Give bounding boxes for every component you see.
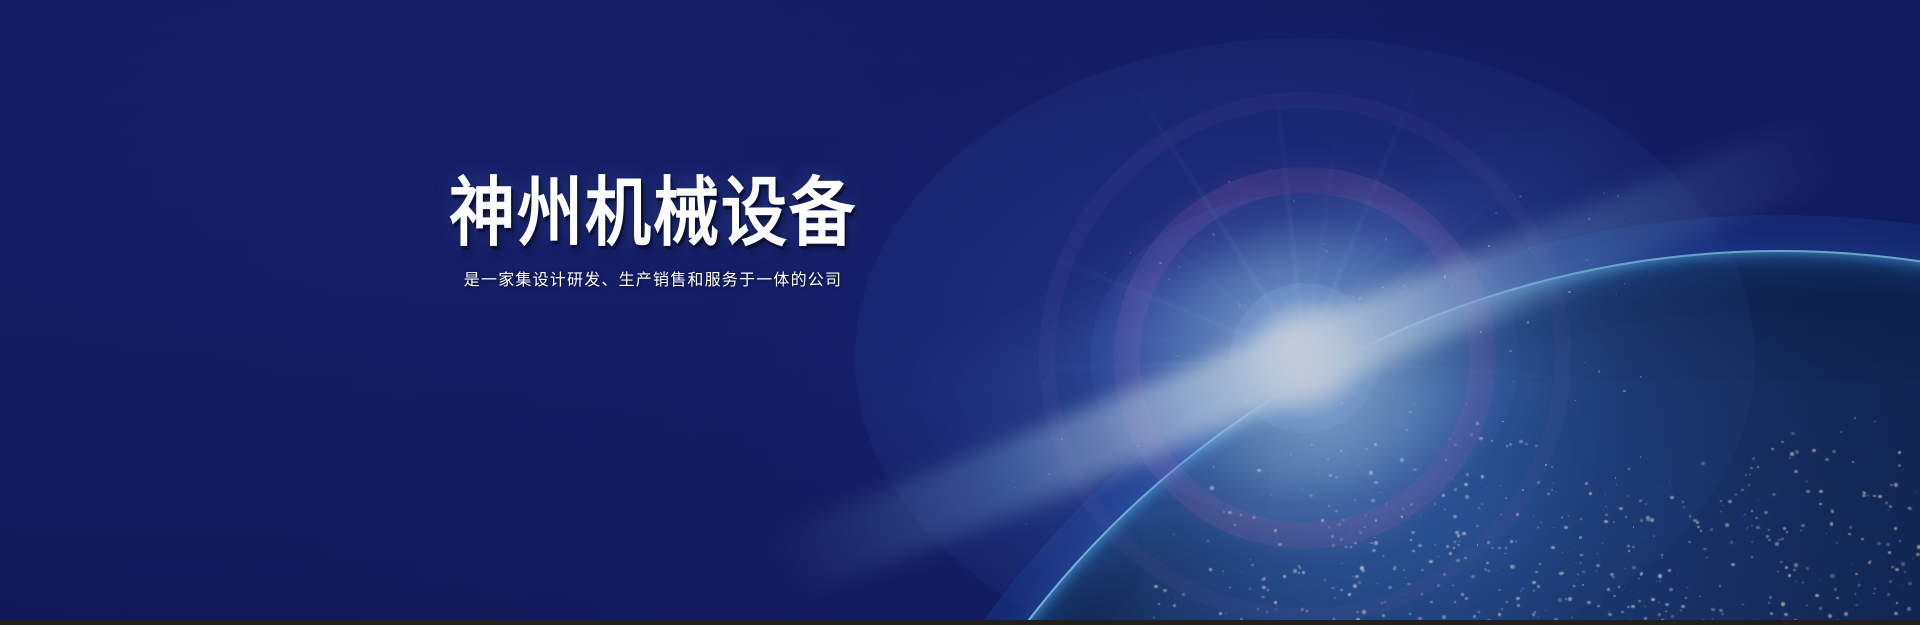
globe-surface (830, 250, 1920, 625)
bottom-trim-bar (0, 620, 1920, 625)
hero-text-block: 神州机械设备 是一家集设计研发、生产销售和服务于一体的公司 (368, 176, 938, 289)
page-title: 神州机械设备 (368, 176, 938, 251)
hero-banner: 神州机械设备 是一家集设计研发、生产销售和服务于一体的公司 (0, 0, 1920, 625)
earth-globe-scene (0, 0, 1920, 625)
